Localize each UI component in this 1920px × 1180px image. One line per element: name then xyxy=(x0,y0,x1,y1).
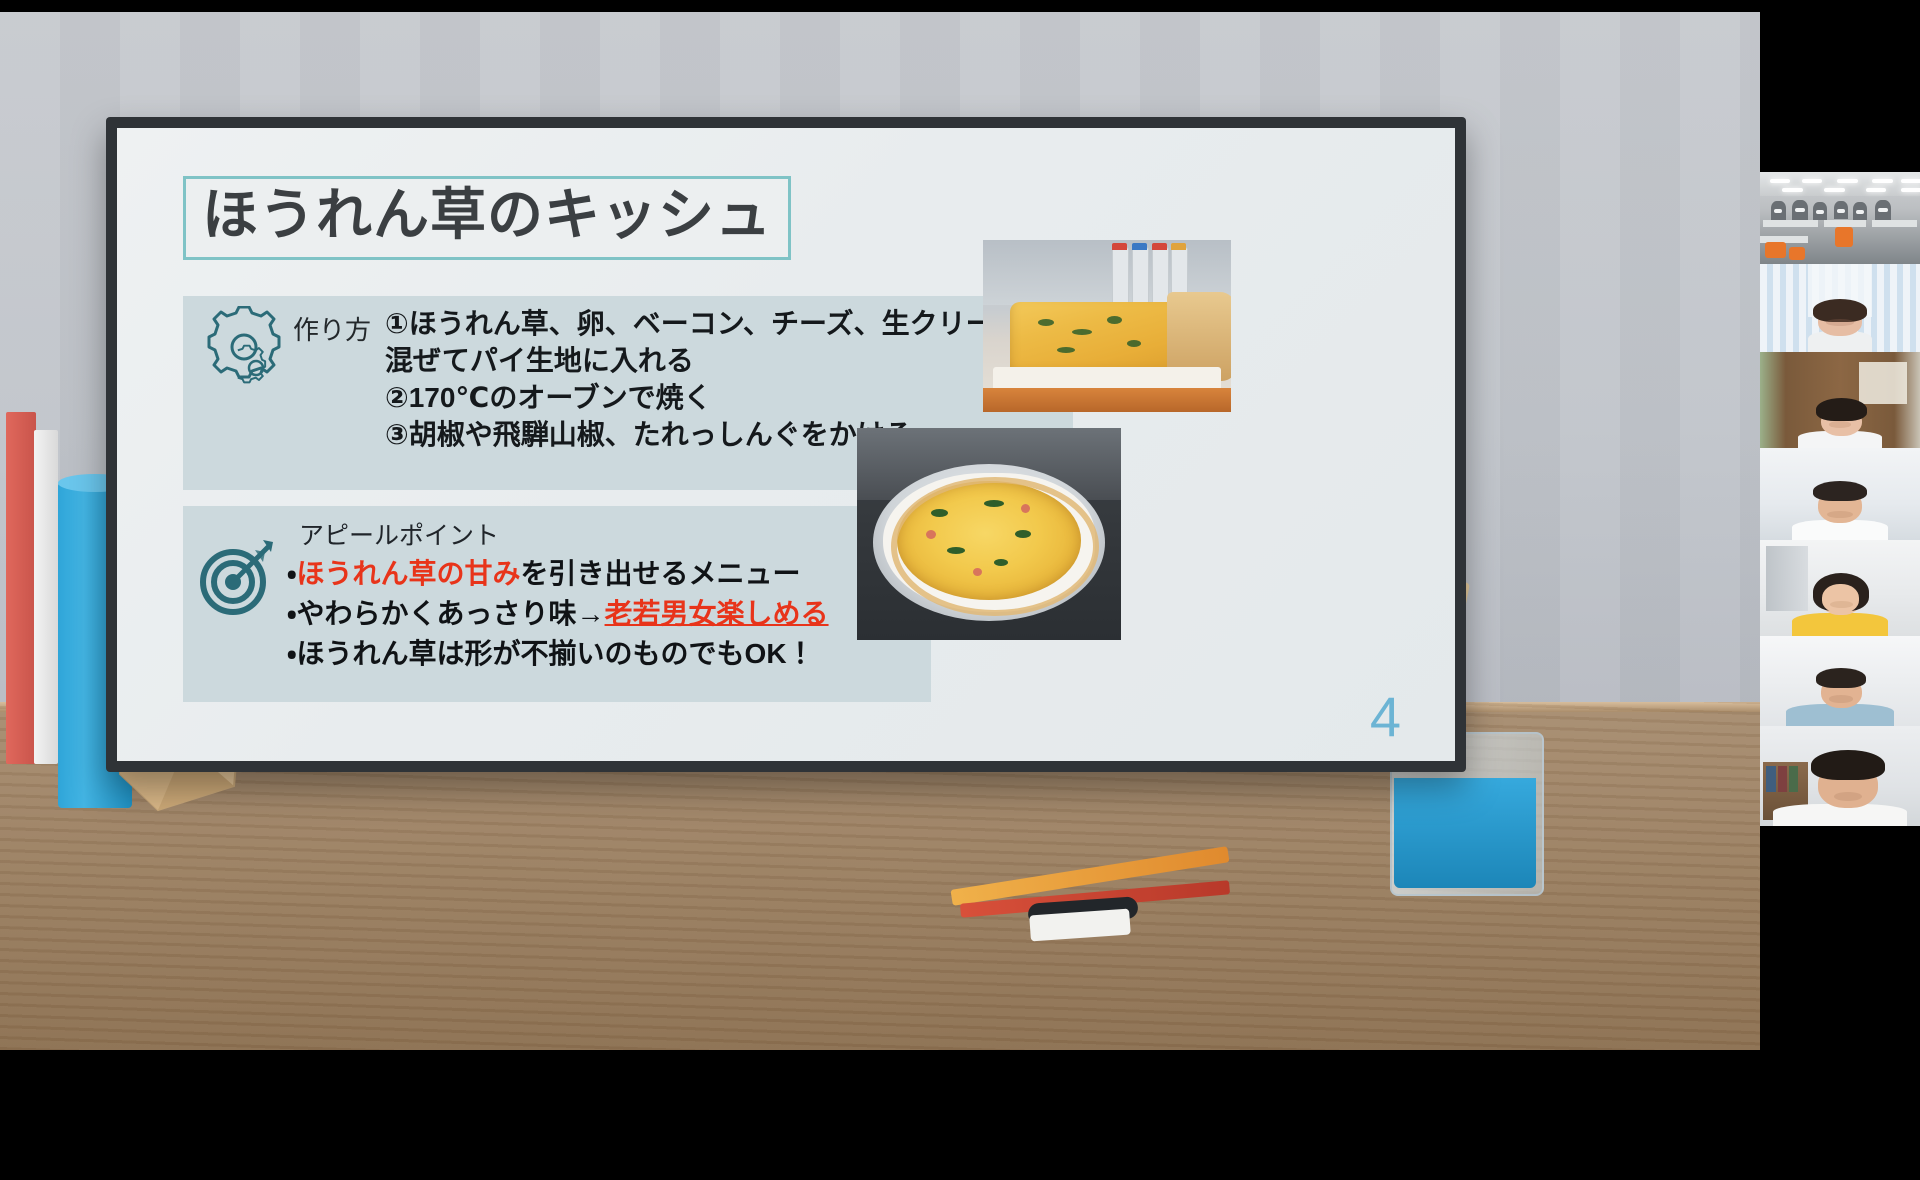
filmstrip-top-gap xyxy=(1760,0,1920,172)
point-text: ほうれん草は形が不揃いのものでもOK！ xyxy=(297,638,815,669)
highlight-text: ほうれん草の甘み xyxy=(297,558,521,589)
appeal-point-3: ・ほうれん草は形が不揃いのものでもOK！ xyxy=(287,634,927,674)
appeal-points-list: ・ほうれん草の甘みを引き出せるメニュー ・やわらかくあっさり味→老若男女楽しめる… xyxy=(287,554,927,673)
point-text: を引き出せるメニュー xyxy=(521,558,801,589)
method-label: 作り方 xyxy=(293,310,371,347)
shared-screen-pane[interactable]: ほうれん草のキッシュ xyxy=(0,0,1760,1080)
presentation-slide: ほうれん草のキッシュ xyxy=(117,128,1455,761)
participant-video-4 xyxy=(1760,448,1920,540)
participant-tile-7[interactable] xyxy=(1760,726,1920,826)
bullet-mark: ・ xyxy=(287,558,297,589)
method-step-2: ②170℃のオーブンで焼く xyxy=(385,380,1067,417)
participant-video-2 xyxy=(1760,264,1920,352)
bullet-mark: ・ xyxy=(287,598,297,629)
filmstrip-bottom-gap xyxy=(1760,826,1920,1180)
participant-tile-1[interactable] xyxy=(1760,172,1920,264)
appeal-panel: アピールポイント ・ほうれん草の甘みを引き出せるメニュー ・やわらかくあっさり味… xyxy=(183,506,931,702)
participant-tile-4[interactable] xyxy=(1760,448,1920,540)
appeal-point-1: ・ほうれん草の甘みを引き出せるメニュー xyxy=(287,554,927,594)
book-white xyxy=(34,430,58,764)
video-call-root: ほうれん草のキッシュ xyxy=(0,0,1920,1080)
book-red xyxy=(6,412,36,764)
slide-page-number: 4 xyxy=(1370,689,1401,745)
point-text: やわらかくあっさり味→ xyxy=(297,598,605,629)
participant-filmstrip[interactable] xyxy=(1760,0,1920,1080)
quiche-whole-photo xyxy=(857,428,1121,640)
participant-video-3 xyxy=(1760,352,1920,448)
jar-water xyxy=(1394,778,1536,888)
highlight-text: 老若男女楽しめる xyxy=(605,598,829,629)
quiche-slice-photo xyxy=(983,240,1231,412)
gears-icon xyxy=(191,306,295,396)
page-title: ほうれん草のキッシュ xyxy=(202,183,772,247)
shared-screen-content: ほうれん草のキッシュ xyxy=(0,12,1760,1050)
participant-tile-2[interactable] xyxy=(1760,264,1920,352)
slide-title-box: ほうれん草のキッシュ xyxy=(183,176,791,260)
appeal-point-2: ・やわらかくあっさり味→老若男女楽しめる xyxy=(287,594,927,634)
participant-tile-3[interactable] xyxy=(1760,352,1920,448)
method-step-1: ①ほうれん草、卵、ベーコン、チーズ、生クリームを混ぜてパイ生地に入れる xyxy=(385,306,1067,380)
participant-video-1 xyxy=(1760,172,1920,264)
books-prop xyxy=(0,412,62,812)
participant-tile-6[interactable] xyxy=(1760,636,1920,726)
participant-tile-5[interactable] xyxy=(1760,540,1920,636)
appeal-label: アピールポイント xyxy=(299,516,499,552)
participant-video-7 xyxy=(1760,726,1920,826)
participant-video-6 xyxy=(1760,636,1920,726)
target-arrow-icon xyxy=(193,536,279,622)
whiteboard-frame: ほうれん草のキッシュ xyxy=(106,117,1466,772)
participant-video-5 xyxy=(1760,540,1920,636)
bullet-mark: ・ xyxy=(287,638,297,669)
